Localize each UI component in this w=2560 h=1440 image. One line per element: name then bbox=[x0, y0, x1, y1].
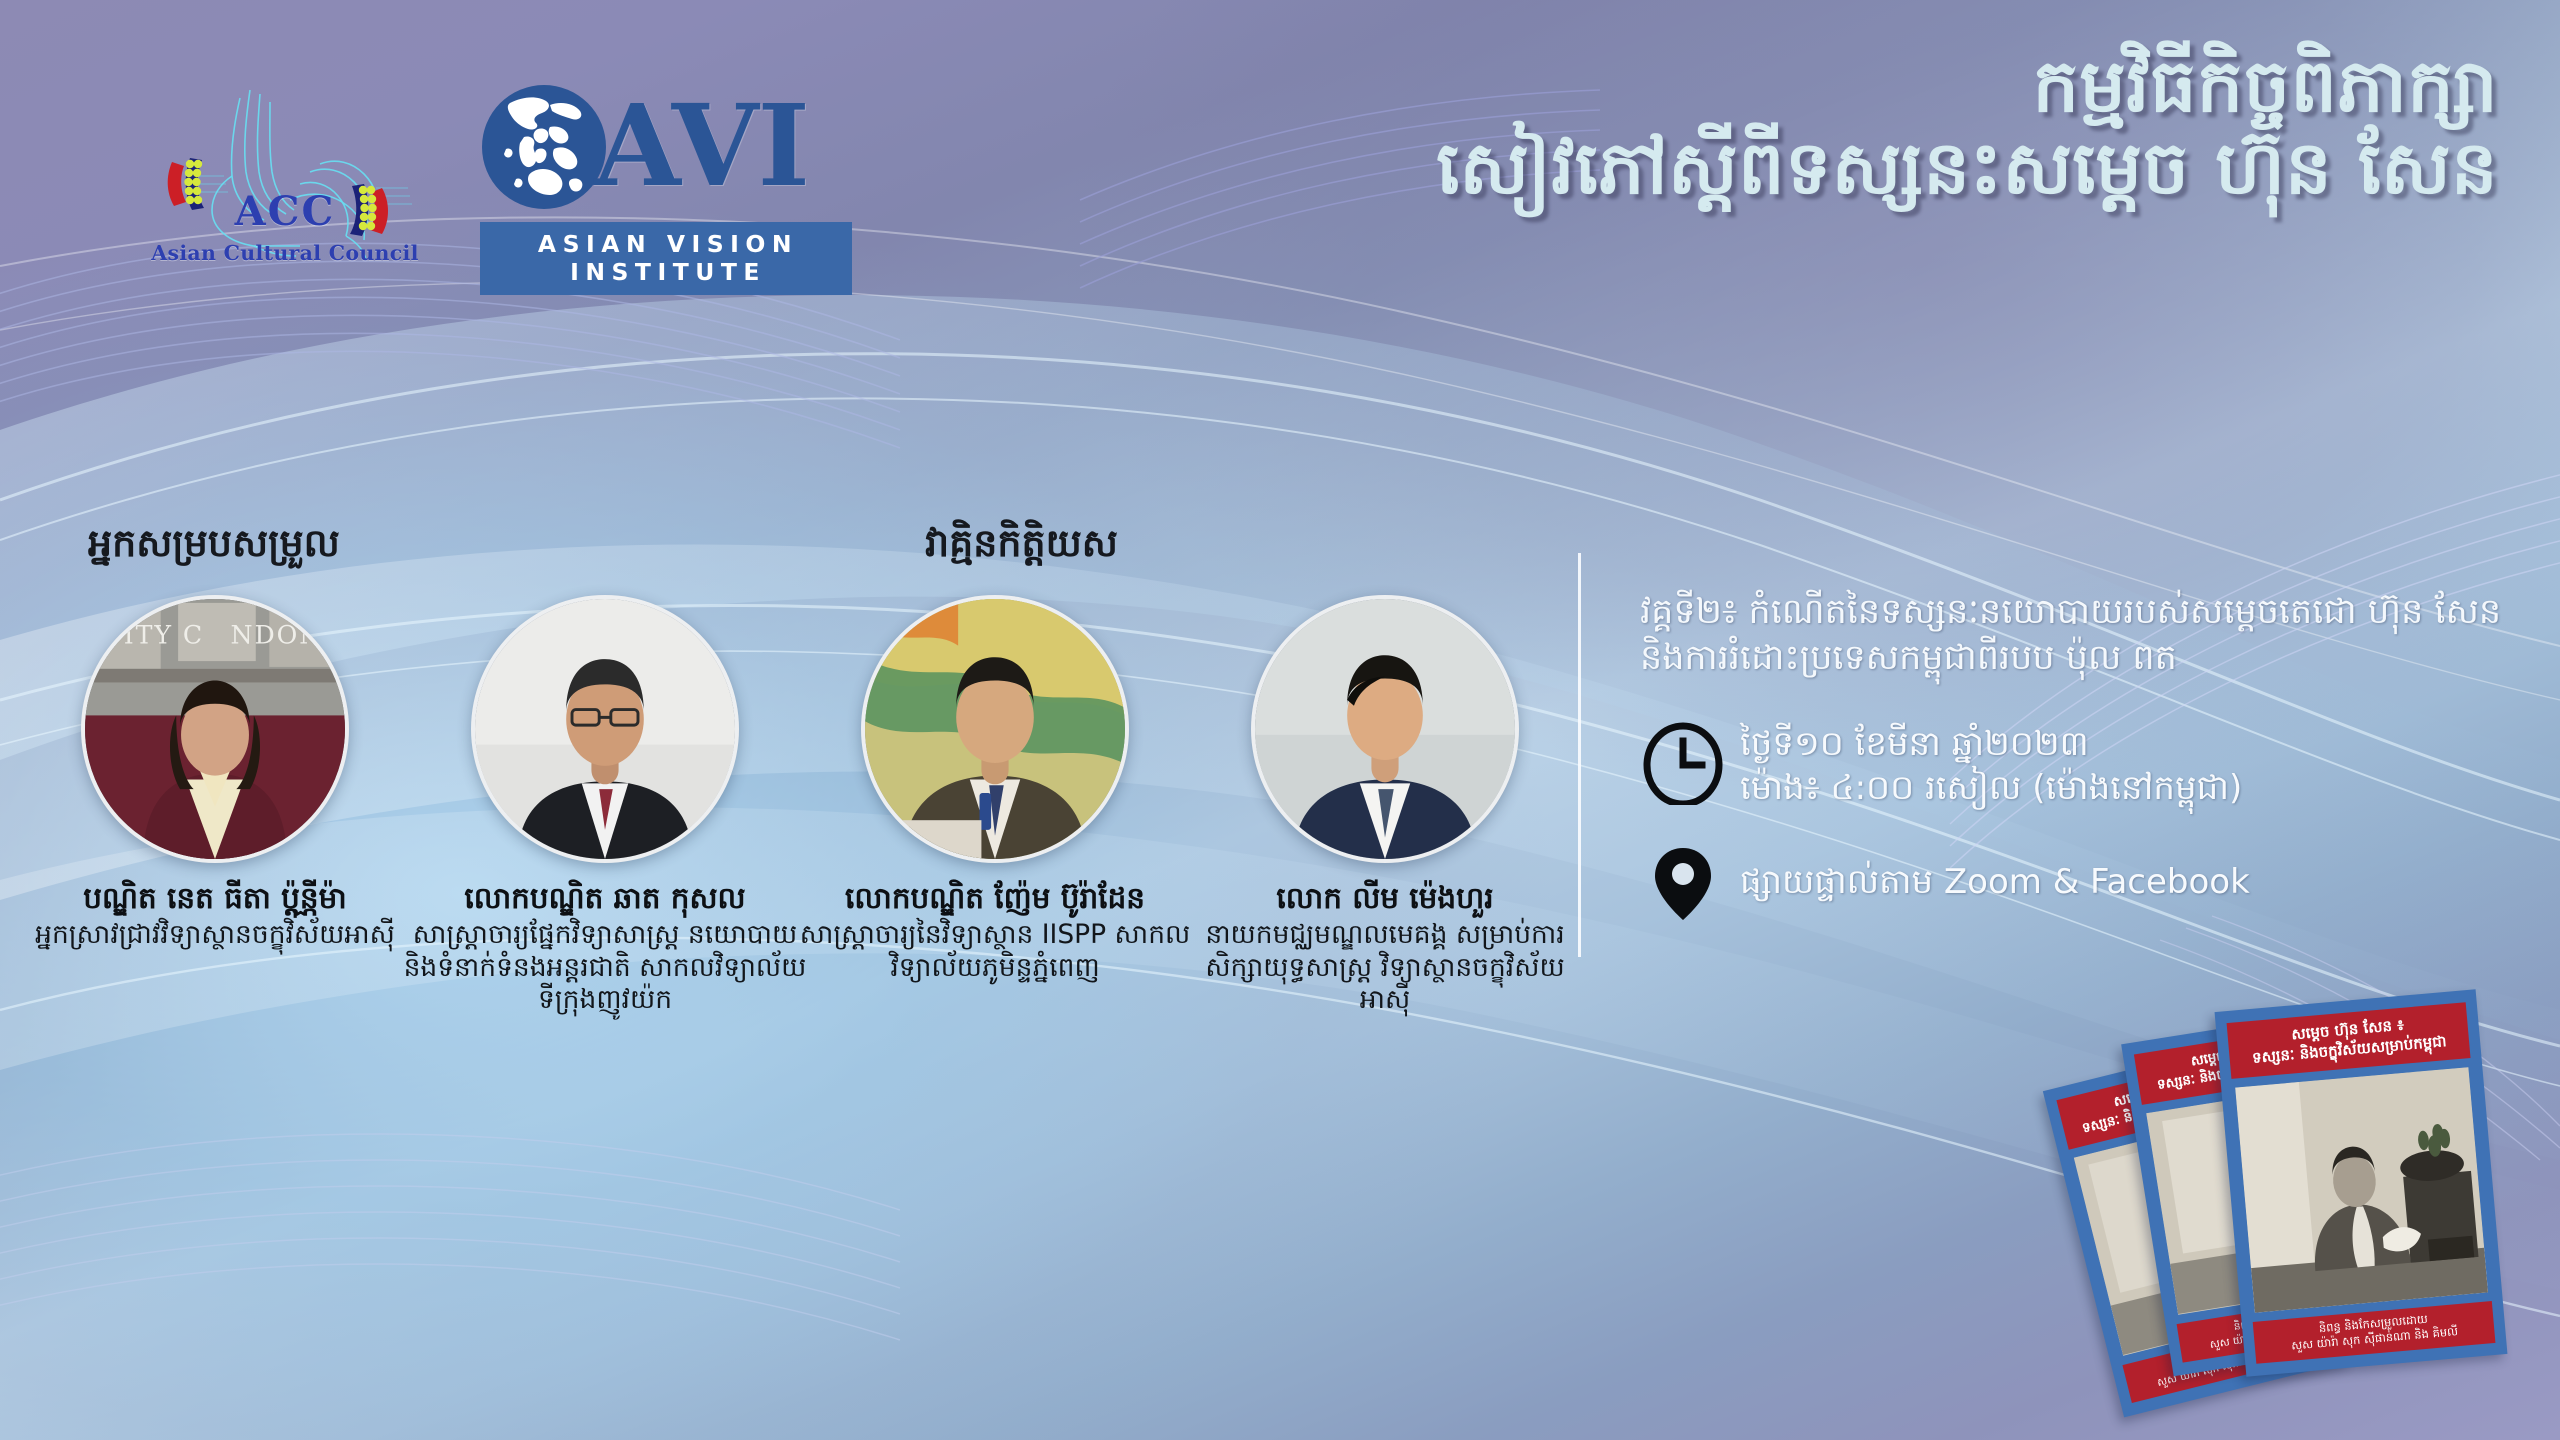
clock-icon bbox=[1640, 719, 1726, 805]
platform-text: ផ្សាយផ្ទាល់តាម Zoom & Facebook bbox=[1740, 861, 2250, 905]
avatar: CITY C NDON bbox=[81, 595, 349, 863]
vertical-divider bbox=[1578, 553, 1581, 957]
person-name: លោកបណ្ឌិត ឆាត កុសល bbox=[464, 881, 745, 916]
person-role: សាស្ត្រាចារ្យនៃវិទ្យាស្ថាន IISPP សាកលវិទ… bbox=[785, 919, 1205, 984]
event-time: ម៉ោង៖ ៤:០០ រសៀល (ម៉ោងនៅកម្ពុជា) bbox=[1740, 767, 2242, 811]
person-card-speaker-3: លោក លីម ម៉េងហួរ នាយកមជ្ឈមណ្ឌលមេគង្គ សម្រ… bbox=[1190, 595, 1580, 1016]
person-role: អ្នកស្រាវជ្រាវវិទ្យាស្ថានចក្ខុវិស័យអាស៊ី bbox=[0, 919, 435, 951]
event-info-panel: វគ្គទី២៖ កំណើតនៃទស្សនៈនយោបាយរបស់សម្តេចតេ… bbox=[1640, 590, 2520, 926]
avi-letters: AVI bbox=[594, 91, 809, 203]
people-row: CITY C NDON បណ្ឌិត នេត ធីតា ប៉ុន្ណីម៉ា អ… bbox=[20, 595, 1580, 1016]
moderator-heading: អ្នកសម្របសម្រួល bbox=[88, 519, 340, 575]
book-title: សម្តេច ហ៊ុន សែន ៖ ទស្សនៈ និងចក្ខុវិស័យសម… bbox=[2227, 1002, 2471, 1078]
portrait-man-at-podium-photo bbox=[865, 599, 1125, 859]
portrait-graduate-woman-photo: CITY C NDON bbox=[85, 599, 345, 859]
svg-text:CITY C: CITY C bbox=[102, 621, 204, 650]
map-pin-icon bbox=[1640, 840, 1726, 926]
event-date: ថ្ងៃទី១០ ខែមីនា ឆ្នាំ២០២៣ bbox=[1740, 723, 2242, 767]
speakers-heading: វាគ្មិនកិត្តិយស bbox=[925, 519, 1118, 575]
person-card-moderator: CITY C NDON បណ្ឌិត នេត ធីតា ប៉ុន្ណីម៉ា អ… bbox=[20, 595, 410, 1016]
book-stack: សម្តេច ហ៊ុន សែន ៖ ទស្សនៈ និងចក្ខុវិស័យសម… bbox=[2080, 990, 2550, 1390]
portrait-young-man-navy-suit-photo bbox=[1255, 599, 1515, 859]
acc-full-name: Asian Cultural Council bbox=[142, 241, 428, 265]
page-title-line2: សៀវភៅស្តីពីទស្សនះសម្តេច ហ៊ុន សែន bbox=[1436, 128, 2498, 210]
avatar bbox=[471, 595, 739, 863]
person-role: សាស្ត្រាចារ្យផ្នែកវិទ្យាសាស្ត្រ នយោបាយ ន… bbox=[395, 919, 815, 1016]
book-cover-photo bbox=[2235, 1067, 2488, 1313]
avatar bbox=[861, 595, 1129, 863]
person-card-speaker-2: លោកបណ្ឌិត ញ៉ែម ប៊ូរ៉ាដែន សាស្ត្រាចារ្យនៃ… bbox=[800, 595, 1190, 1016]
praying-hands-icon bbox=[150, 80, 420, 265]
session-topic: វគ្គទី២៖ កំណើតនៃទស្សនៈនយោបាយរបស់សម្តេចតេ… bbox=[1640, 590, 2520, 681]
person-name: លោកបណ្ឌិត ញ៉ែម ប៊ូរ៉ាដែន bbox=[845, 881, 1145, 916]
globe-asia-icon bbox=[480, 83, 608, 211]
portrait-man-dark-suit-photo bbox=[475, 599, 735, 859]
page-title-line1: កម្មវិធីកិច្ចពិភាក្សា bbox=[1436, 46, 2498, 128]
avatar bbox=[1251, 595, 1519, 863]
person-name: លោក លីម ម៉េងហួរ bbox=[1276, 881, 1493, 916]
logo-row: ACC Asian Cultural Council bbox=[150, 80, 880, 266]
person-card-speaker-1: លោកបណ្ឌិត ឆាត កុសល សាស្ត្រាចារ្យផ្នែកវិទ… bbox=[410, 595, 800, 1016]
book-credit: និពន្ធ និងកែសម្រួលដោយ សួស យ៉ារ៉ា សុក ស៊ី… bbox=[2253, 1301, 2496, 1364]
avi-logo: AVI ASIAN VISION INSTITUTE bbox=[480, 76, 880, 266]
location-row: ផ្សាយផ្ទាល់តាម Zoom & Facebook bbox=[1640, 840, 2520, 926]
book-cover-front: សម្តេច ហ៊ុន សែន ៖ ទស្សនៈ និងចក្ខុវិស័យសម… bbox=[2215, 989, 2508, 1376]
svg-text:NDON: NDON bbox=[231, 621, 324, 650]
acc-abbr: ACC bbox=[150, 188, 420, 235]
poster-canvas: ACC Asian Cultural Council bbox=[0, 0, 2560, 1440]
person-name: បណ្ឌិត នេត ធីតា ប៉ុន្ណីម៉ា bbox=[83, 881, 346, 916]
page-title: កម្មវិធីកិច្ចពិភាក្សា សៀវភៅស្តីពីទស្សនះស… bbox=[1436, 46, 2498, 210]
avi-tagline: ASIAN VISION INSTITUTE bbox=[480, 222, 852, 295]
datetime-text: ថ្ងៃទី១០ ខែមីនា ឆ្នាំ២០២៣ ម៉ោង៖ ៤:០០ រសៀ… bbox=[1740, 719, 2242, 810]
datetime-row: ថ្ងៃទី១០ ខែមីនា ឆ្នាំ២០២៣ ម៉ោង៖ ៤:០០ រសៀ… bbox=[1640, 719, 2520, 810]
acc-logo: ACC Asian Cultural Council bbox=[150, 80, 420, 265]
person-role: នាយកមជ្ឈមណ្ឌលមេគង្គ សម្រាប់ការសិក្សាយុទ្… bbox=[1185, 919, 1585, 1016]
